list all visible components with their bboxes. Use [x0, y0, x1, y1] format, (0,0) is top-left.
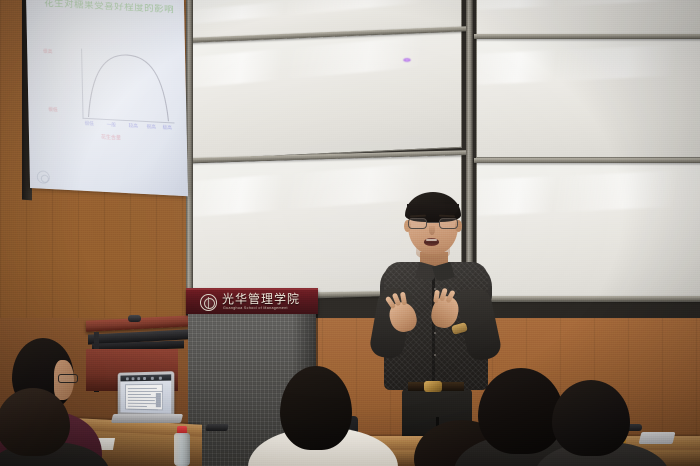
glasses-lens-right — [439, 218, 458, 229]
doc-line — [128, 391, 163, 392]
chart-curve — [81, 49, 174, 124]
chart-ytick-low: 很低 — [48, 107, 57, 113]
slide-chart: 很高 很低 很低 一般 较高 很高 极高 花生含量 — [61, 46, 177, 130]
whiteboard-panel — [476, 0, 700, 38]
laptop-keyboard-base[interactable] — [111, 414, 183, 423]
eyeglasses-icon — [58, 374, 78, 383]
chart-xtick-1: 一般 — [107, 122, 116, 128]
projection-screen: 花生对糖果受喜好程度的影响 很高 很低 很低 一般 较高 很高 极高 花生含量 — [26, 0, 188, 196]
student-head — [280, 366, 352, 450]
whiteboard-rail — [474, 158, 700, 163]
lectern-school-name-en: Guanghua School of Management — [223, 306, 288, 310]
toolbar-icon — [151, 377, 154, 380]
doc-line — [128, 388, 157, 389]
student-center-white — [268, 366, 372, 466]
chart-x-axis-title: 花生含量 — [101, 134, 121, 142]
chart-xtick-4: 极高 — [163, 125, 172, 131]
laptop[interactable] — [118, 371, 175, 417]
glasses-bridge — [427, 222, 439, 223]
student-head — [552, 380, 630, 456]
laptop-screen — [120, 374, 171, 413]
chart-xtick-0: 很低 — [85, 121, 94, 127]
doc-line — [128, 394, 151, 395]
whiteboard-rail — [474, 296, 700, 301]
toolbar-icon — [143, 377, 146, 380]
lectern-top-surface: 光华管理学院 Guanghua School of Management — [186, 288, 318, 314]
doc-line — [128, 400, 155, 401]
doc-line — [128, 406, 147, 407]
doc-line — [128, 409, 158, 411]
presenter-shirt-placket — [432, 270, 435, 382]
glasses-lens-left — [408, 218, 427, 229]
whiteboard-rail — [474, 34, 700, 39]
chart-ytick-high: 很高 — [43, 49, 52, 55]
av-control-puck — [128, 315, 141, 322]
lecture-hall-photo: 花生对糖果受喜好程度的影响 很高 很低 很低 一般 较高 很高 极高 花生含量 — [0, 0, 700, 466]
bottle-body — [174, 433, 190, 466]
chart-xtick-3: 很高 — [147, 124, 156, 130]
presenter-nose — [429, 226, 435, 235]
chart-xtick-2: 较高 — [129, 123, 138, 129]
laptop-document — [125, 384, 163, 411]
toolbar-icon — [126, 377, 129, 379]
student-head — [0, 388, 70, 456]
presenter-chin — [416, 246, 450, 260]
school-seal-watermark — [37, 170, 50, 184]
doc-scrollbar[interactable] — [156, 393, 161, 407]
toolbar-icon — [159, 377, 162, 380]
toolbar-icon — [132, 377, 135, 380]
school-seal-icon — [200, 294, 217, 311]
presenter-teeth — [426, 239, 437, 242]
whiteboard-panel — [192, 28, 462, 160]
whiteboard-panel — [476, 162, 700, 302]
toolbar-icon — [137, 377, 140, 380]
lectern-school-name-cn: 光华管理学院 — [222, 293, 300, 305]
student-left-front — [0, 388, 96, 466]
laser-pointer-dot — [403, 58, 411, 62]
desk-item-dark — [205, 424, 228, 431]
student-right-b — [546, 380, 654, 466]
whiteboard-panel — [476, 38, 700, 158]
slide-title: 花生对糖果受喜好程度的影响 — [34, 0, 184, 16]
water-bottle — [174, 424, 190, 466]
belt-buckle-icon — [424, 381, 442, 392]
